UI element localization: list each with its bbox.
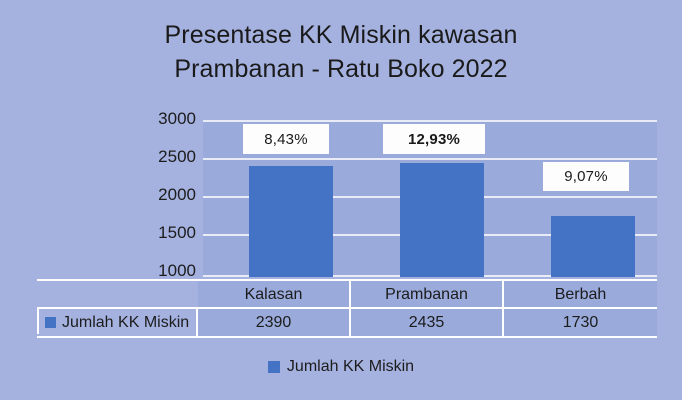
y-tick-1000: 1000 bbox=[128, 262, 196, 280]
data-label-berbah: 9,07% bbox=[543, 162, 629, 191]
y-tick-3000: 3000 bbox=[128, 110, 196, 128]
legend-label: Jumlah KK Miskin bbox=[287, 358, 414, 376]
gridline-2500 bbox=[203, 158, 657, 160]
bar-kalasan[interactable] bbox=[249, 166, 333, 277]
chart-legend: Jumlah KK Miskin bbox=[0, 358, 682, 376]
bar-prambanan[interactable] bbox=[400, 163, 484, 277]
table-row: Jumlah KK Miskin 2390 2435 1730 bbox=[37, 307, 657, 338]
table-header-kalasan: Kalasan bbox=[198, 281, 351, 308]
chart-slide: Presentase KK Miskin kawasan Prambanan -… bbox=[0, 0, 682, 400]
table-header-berbah: Berbah bbox=[504, 281, 657, 308]
table-cell-berbah: 1730 bbox=[504, 309, 657, 336]
chart-title: Presentase KK Miskin kawasan Prambanan -… bbox=[0, 18, 682, 86]
y-tick-1500: 1500 bbox=[128, 224, 196, 242]
table-cell-kalasan: 2390 bbox=[198, 309, 351, 336]
series-swatch-icon bbox=[45, 317, 56, 328]
gridline-3000 bbox=[203, 120, 657, 122]
table-row-label: Jumlah KK Miskin bbox=[62, 314, 189, 332]
table-header-row: Kalasan Prambanan Berbah bbox=[37, 279, 657, 308]
bar-berbah[interactable] bbox=[551, 216, 635, 277]
data-label-kalasan: 8,43% bbox=[243, 124, 329, 154]
y-tick-2000: 2000 bbox=[128, 186, 196, 204]
legend-swatch-icon bbox=[268, 361, 280, 373]
y-tick-2500: 2500 bbox=[128, 148, 196, 166]
table-header-corner bbox=[37, 281, 198, 308]
data-table: Kalasan Prambanan Berbah Jumlah KK Miski… bbox=[37, 279, 657, 334]
y-axis: 3000 2500 2000 1500 1000 bbox=[128, 110, 196, 290]
table-header-prambanan: Prambanan bbox=[351, 281, 504, 308]
table-row-label-cell: Jumlah KK Miskin bbox=[37, 309, 198, 336]
data-label-prambanan: 12,93% bbox=[383, 124, 485, 154]
table-cell-prambanan: 2435 bbox=[351, 309, 504, 336]
